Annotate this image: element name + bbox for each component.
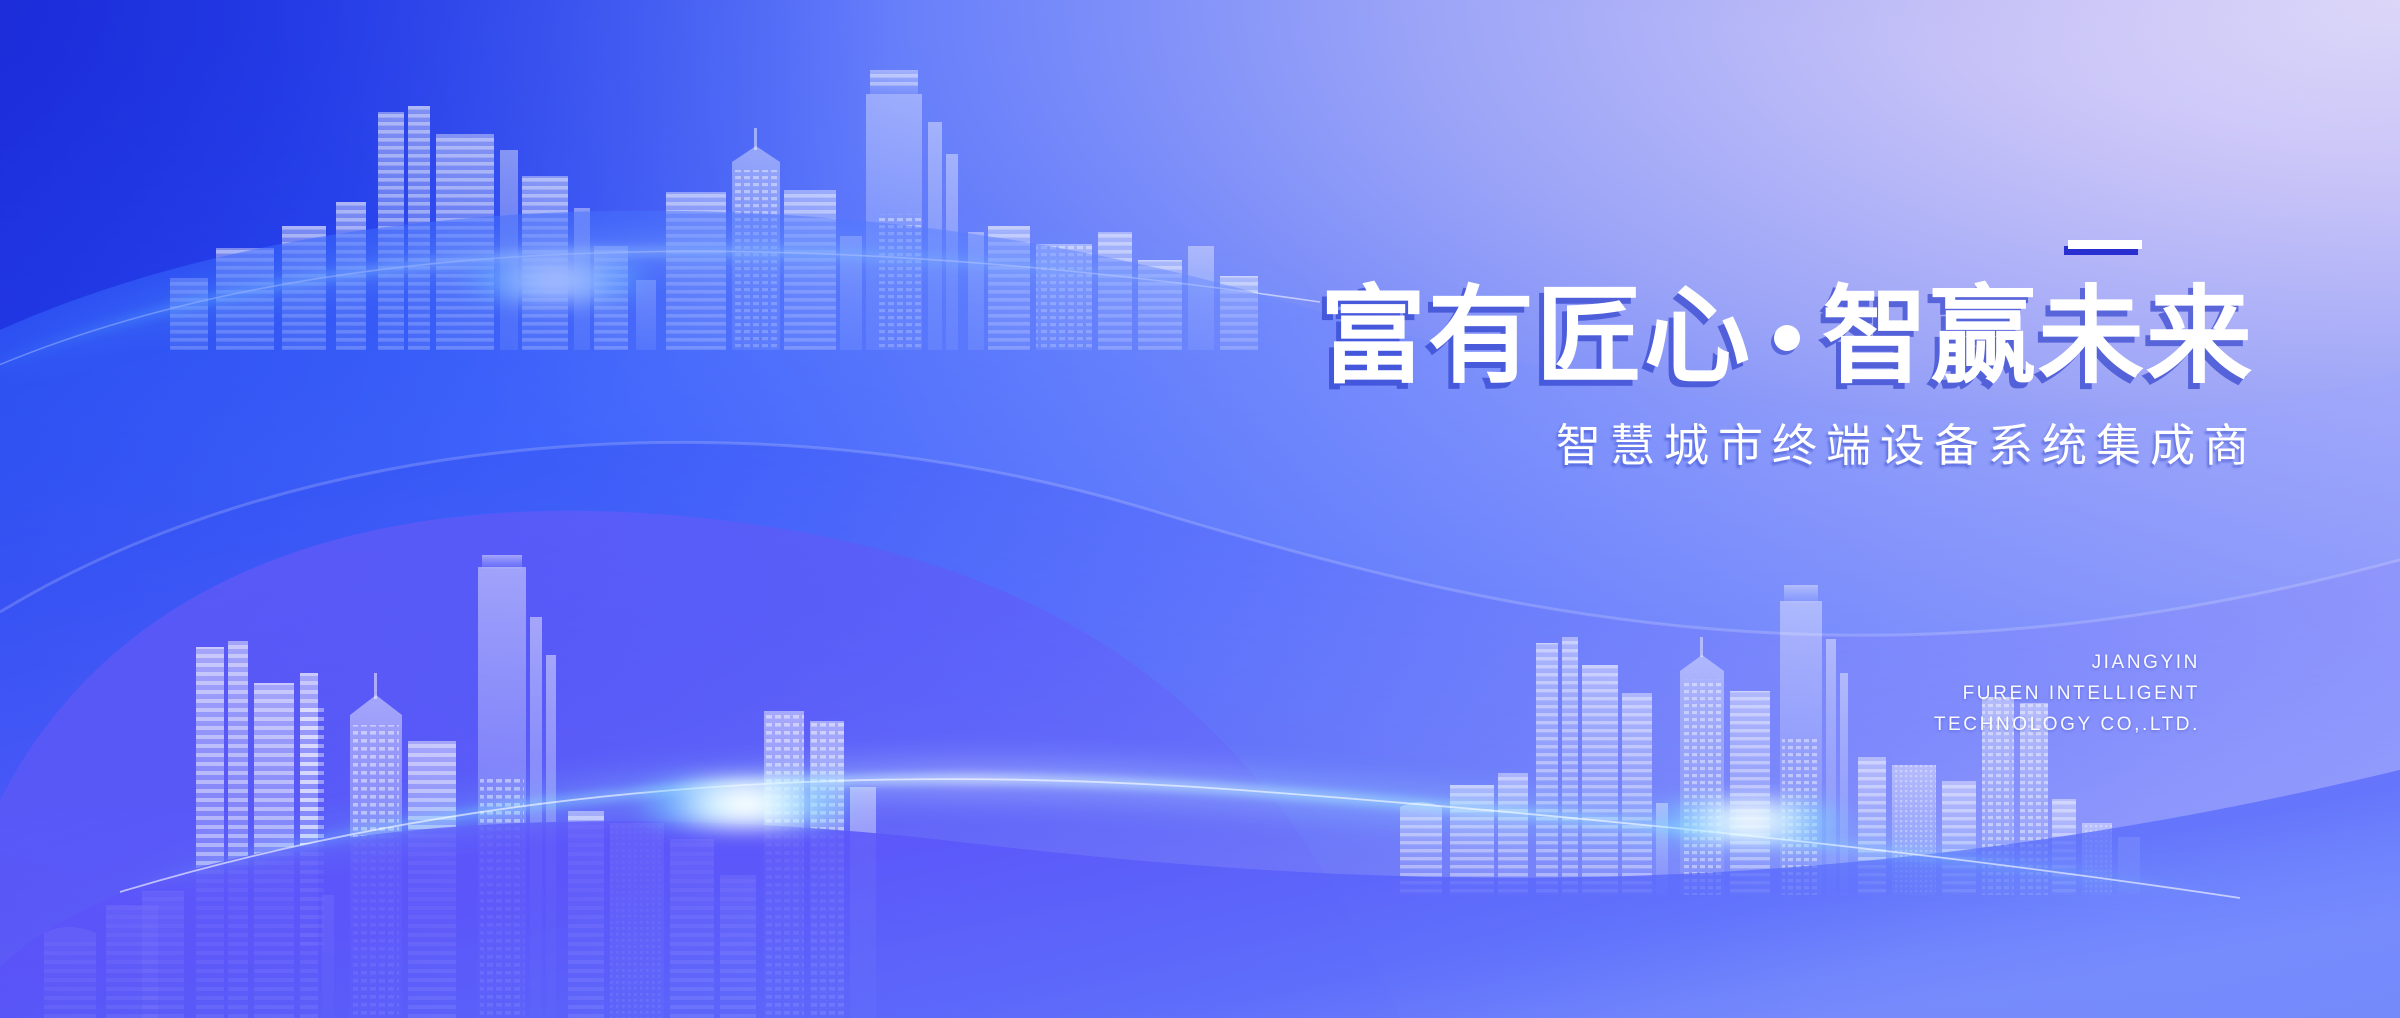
decor-dash-icon <box>2068 240 2142 249</box>
glow-hotspot-lower-left <box>600 780 890 828</box>
glow-arc-lower <box>180 720 2180 920</box>
decor-dash-wrapper <box>1040 240 2260 249</box>
glow-hotspot-lower-right <box>1620 800 1880 842</box>
company-name-line-3: TECHNOLOGY CO,.LTD. <box>1660 710 2200 741</box>
headline-block: 富有匠心智赢未来 智慧城市终端设备系统集成商 <box>1040 240 2260 473</box>
headline-part-1: 富有匠心 <box>1320 278 1752 396</box>
page-title: 富有匠心智赢未来 <box>1040 281 2260 393</box>
headline-part-2: 智赢未来 <box>1822 278 2254 396</box>
company-name-line-2: FUREN INTELLIGENT <box>1660 679 2200 710</box>
page-subtitle: 智慧城市终端设备系统集成商 <box>1040 419 2260 473</box>
company-name-block: JIANGYIN FUREN INTELLIGENT TECHNOLOGY CO… <box>1660 648 2200 740</box>
banner-canvas: 富有匠心智赢未来 智慧城市终端设备系统集成商 JIANGYIN FUREN IN… <box>0 0 2400 1018</box>
headline-separator-dot-icon <box>1774 325 1800 351</box>
company-name-line-1: JIANGYIN <box>1660 648 2200 679</box>
